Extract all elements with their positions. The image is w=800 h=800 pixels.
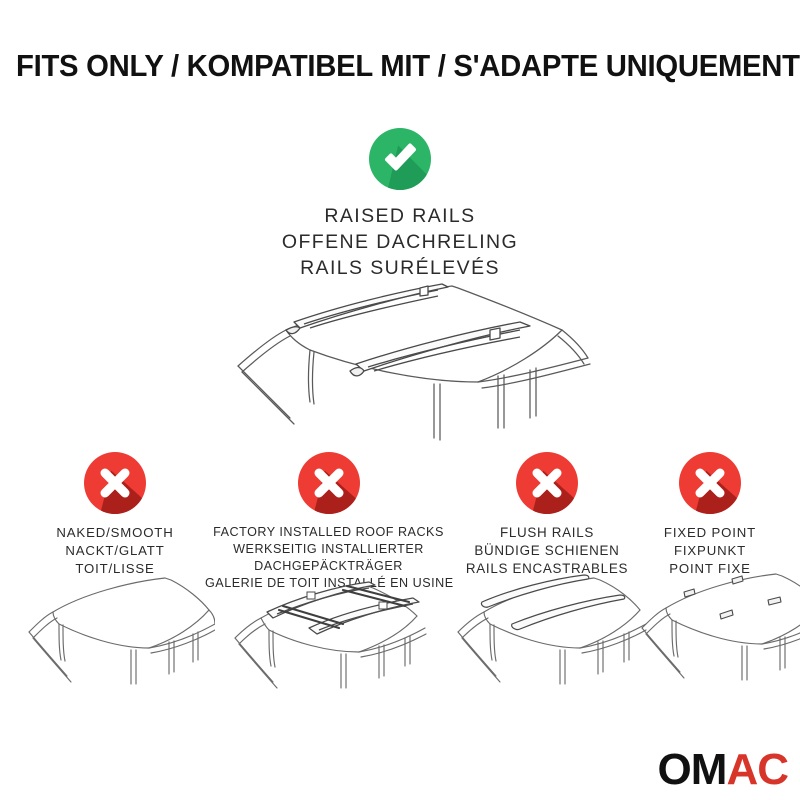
label-de: NACKT/GLATT: [25, 542, 205, 560]
x-circle-icon: [298, 452, 360, 514]
badge-wrap: [640, 452, 780, 514]
incompatible-item-factory-racks: FACTORY INSTALLED ROOF RACKS WERKSEITIG …: [205, 452, 452, 593]
label-en: FACTORY INSTALLED ROOF RACKS: [205, 524, 452, 541]
car-roof-fixed-point-illustration: [640, 556, 780, 691]
logo-text-red: AC: [726, 745, 788, 794]
compatible-labels: RAISED RAILS OFFENE DACHRELING RAILS SUR…: [0, 204, 800, 282]
x-circle-icon: [84, 452, 146, 514]
car-roof-naked-smooth-illustration: [25, 564, 205, 694]
incompatible-item-flush-rails: FLUSH RAILS BÜNDIGE SCHIENEN RAILS ENCAS…: [452, 452, 642, 579]
badge-wrap: [452, 452, 642, 514]
incompatible-item-naked-smooth: NAKED/SMOOTH NACKT/GLATT TOIT/LISSE: [25, 452, 205, 578]
label-en: FIXED POINT: [640, 524, 780, 542]
label-de-1: WERKSEITIG INSTALLIERTER: [205, 541, 452, 558]
compatible-label-de: OFFENE DACHRELING: [0, 230, 800, 256]
incompatible-item-fixed-point: FIXED POINT FIXPUNKT POINT FIXE: [640, 452, 780, 578]
compatible-section: RAISED RAILS OFFENE DACHRELING RAILS SUR…: [0, 128, 800, 282]
page-title: FITS ONLY / KOMPATIBEL MIT / S'ADAPTE UN…: [16, 50, 784, 84]
incompatible-section: NAKED/SMOOTH NACKT/GLATT TOIT/LISSE: [0, 452, 800, 702]
car-roof-raised-rails-illustration: [190, 278, 610, 453]
x-circle-icon: [516, 452, 578, 514]
car-roof-flush-rails-illustration: [452, 562, 642, 692]
header: FITS ONLY / KOMPATIBEL MIT / S'ADAPTE UN…: [0, 50, 800, 84]
compatible-label-en: RAISED RAILS: [0, 204, 800, 230]
label-de: BÜNDIGE SCHIENEN: [452, 542, 642, 560]
label-en: NAKED/SMOOTH: [25, 524, 205, 542]
car-roof-factory-racks-illustration: [205, 562, 452, 697]
x-circle-icon: [679, 452, 741, 514]
infographic-page: FITS ONLY / KOMPATIBEL MIT / S'ADAPTE UN…: [0, 0, 800, 800]
badge-wrap: [25, 452, 205, 514]
label-en: FLUSH RAILS: [452, 524, 642, 542]
logo-text-dark: OM: [658, 745, 727, 794]
badge-wrap: [205, 452, 452, 514]
omac-logo: OMAC: [658, 748, 788, 792]
check-circle-icon: [369, 128, 431, 190]
